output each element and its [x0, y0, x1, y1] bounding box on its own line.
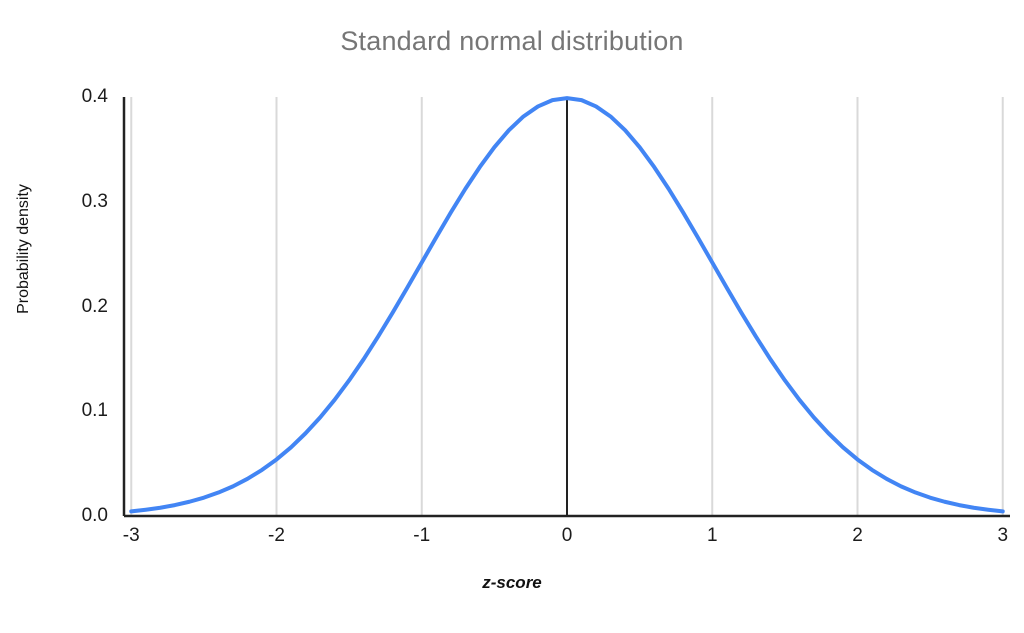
y-tick-label: 0.0: [40, 505, 108, 527]
y-tick-label: 0.1: [40, 400, 108, 422]
y-tick-label: 0.4: [40, 86, 108, 108]
plot-area: [0, 0, 1024, 633]
x-tick-label: 2: [852, 525, 863, 547]
x-tick-label: -1: [413, 525, 430, 547]
y-axis-title: Probability density: [15, 159, 33, 339]
chart-container: Standard normal distribution 0.00.10.20.…: [0, 0, 1024, 633]
y-tick-label: 0.2: [40, 296, 108, 318]
x-tick-label: -2: [268, 525, 285, 547]
x-tick-label: 3: [997, 525, 1008, 547]
x-tick-label: 0: [562, 525, 573, 547]
x-tick-label: 1: [707, 525, 718, 547]
x-axis-title: z-score: [0, 573, 1024, 593]
x-tick-label: -3: [123, 525, 140, 547]
y-tick-label: 0.3: [40, 191, 108, 213]
